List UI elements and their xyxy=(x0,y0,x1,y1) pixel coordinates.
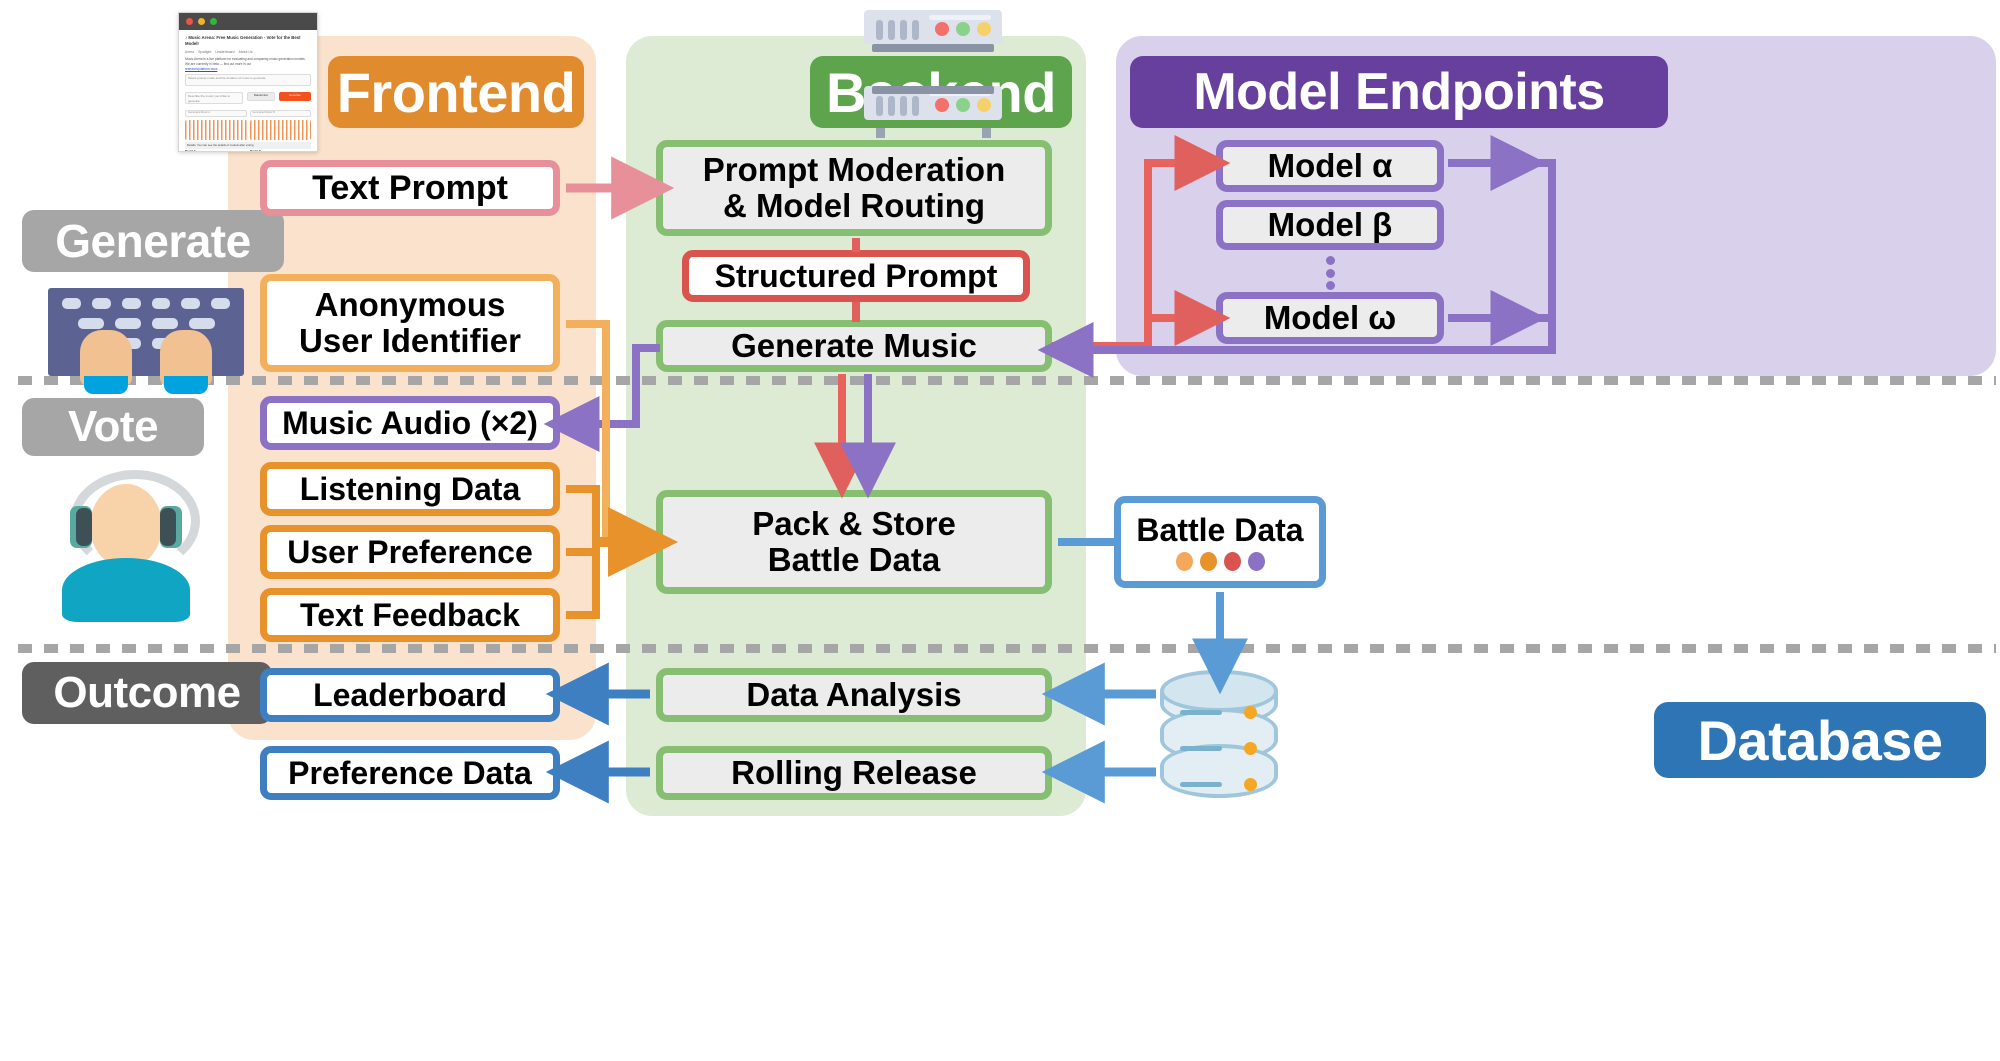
node-rolling-release[interactable]: Rolling Release xyxy=(656,746,1052,800)
node-listening-data-label: Listening Data xyxy=(300,472,520,507)
node-music-audio-label: Music Audio (×2) xyxy=(282,406,538,441)
stage-label-vote-text: Vote xyxy=(68,402,158,452)
thumbnail-prompt-input[interactable]: Describe the music you'd like to generat… xyxy=(185,92,243,104)
thumbnail-generate-button[interactable]: Generate xyxy=(279,92,311,101)
stage-label-generate: Generate xyxy=(22,210,284,272)
node-leaderboard-label: Leaderboard xyxy=(313,678,507,713)
node-text-feedback-label: Text Feedback xyxy=(300,598,520,633)
node-rolling-release-label: Rolling Release xyxy=(731,755,977,791)
lane-title-database: Database xyxy=(1654,702,1986,778)
node-battle-data-label: Battle Data xyxy=(1136,513,1303,548)
battle-data-dots-icon xyxy=(1176,552,1265,571)
node-battle-data[interactable]: Battle Data xyxy=(1114,496,1326,588)
node-pack-store[interactable]: Pack & Store Battle Data xyxy=(656,490,1052,594)
thumbnail-mode-select[interactable]: Select prompt mode and the duration of m… xyxy=(185,74,311,86)
stage-label-outcome-text: Outcome xyxy=(53,668,240,718)
stage-divider-generate-vote xyxy=(18,376,1996,385)
thumbnail-tab-spotlight[interactable]: Spotlight xyxy=(198,50,211,55)
server-rack-icon xyxy=(858,8,1008,136)
thumbnail-intro: Music Arena is a live platform for evalu… xyxy=(185,57,311,67)
node-pack-store-label-1: Pack & Store xyxy=(752,506,956,542)
lane-title-database-label: Database xyxy=(1697,708,1942,773)
thumbnail-tab-arena[interactable]: Arena xyxy=(185,50,194,55)
headphones-person-icon xyxy=(46,470,206,622)
node-data-analysis[interactable]: Data Analysis xyxy=(656,668,1052,722)
node-generate-music[interactable]: Generate Music xyxy=(656,320,1052,372)
thumbnail-intro-link[interactable]: research/platform docs xyxy=(185,67,311,72)
node-anonymous-user-identifier[interactable]: Anonymous User Identifier xyxy=(260,274,560,372)
music-arena-screenshot[interactable]: ♪ Music Arena: Free Music Generation - V… xyxy=(178,12,318,152)
node-model-omega-label: Model ω xyxy=(1264,300,1396,336)
node-anonymous-user-identifier-label-1: Anonymous xyxy=(315,287,506,323)
node-music-audio[interactable]: Music Audio (×2) xyxy=(260,396,560,450)
thumbnail-titlebar xyxy=(179,13,317,30)
node-leaderboard[interactable]: Leaderboard xyxy=(260,668,560,722)
node-model-omega[interactable]: Model ω xyxy=(1216,292,1444,344)
thumbnail-player-b-label: Generated Music B xyxy=(250,110,312,117)
node-listening-data[interactable]: Listening Data xyxy=(260,462,560,516)
node-pack-store-label-2: Battle Data xyxy=(768,542,940,578)
node-prompt-moderation-label-1: Prompt Moderation xyxy=(703,152,1006,188)
node-model-beta-label: Model β xyxy=(1268,207,1393,243)
node-text-prompt[interactable]: Text Prompt xyxy=(260,160,560,216)
model-list-ellipsis-icon xyxy=(1325,256,1335,290)
node-structured-prompt[interactable]: Structured Prompt xyxy=(682,250,1030,302)
node-user-preference[interactable]: User Preference xyxy=(260,525,560,579)
thumbnail-content: ♪ Music Arena: Free Music Generation - V… xyxy=(179,30,317,152)
thumbnail-randomize-button[interactable]: Randomize xyxy=(247,92,275,101)
thumbnail-player-a-label: Generated Music A xyxy=(185,110,247,117)
thumbnail-title: ♪ Music Arena: Free Music Generation - V… xyxy=(185,35,311,48)
stage-label-generate-text: Generate xyxy=(55,214,250,268)
thumbnail-model-a-label: Model A xyxy=(185,149,246,152)
node-model-alpha-label: Model α xyxy=(1268,148,1393,184)
node-preference-data-label: Preference Data xyxy=(288,756,532,791)
stage-label-vote: Vote xyxy=(22,398,204,456)
stage-label-outcome: Outcome xyxy=(22,662,272,724)
node-structured-prompt-label: Structured Prompt xyxy=(715,259,998,294)
architecture-diagram: Frontend Backend Model Endpoints Databas… xyxy=(0,0,2000,1061)
database-cylinder-icon xyxy=(1160,672,1278,808)
node-preference-data[interactable]: Preference Data xyxy=(260,746,560,800)
thumbnail-waveform-b xyxy=(250,120,312,140)
node-prompt-moderation-label-2: & Model Routing xyxy=(723,188,985,224)
node-prompt-moderation[interactable]: Prompt Moderation & Model Routing xyxy=(656,140,1052,236)
thumbnail-tab-about[interactable]: About Us xyxy=(239,50,253,55)
node-text-prompt-label: Text Prompt xyxy=(312,170,508,207)
lane-title-models: Model Endpoints xyxy=(1130,56,1668,128)
thumbnail-model-b-label: Model B xyxy=(250,149,311,152)
node-model-beta[interactable]: Model β xyxy=(1216,200,1444,250)
keyboard-hands-icon xyxy=(48,288,244,394)
thumbnail-tab-leaderboard[interactable]: Leaderboard xyxy=(215,50,234,55)
node-data-analysis-label: Data Analysis xyxy=(746,677,961,713)
node-user-preference-label: User Preference xyxy=(287,535,532,570)
stage-divider-vote-outcome xyxy=(18,644,1996,653)
node-anonymous-user-identifier-label-2: User Identifier xyxy=(299,323,521,359)
node-model-alpha[interactable]: Model α xyxy=(1216,140,1444,192)
lane-title-models-label: Model Endpoints xyxy=(1193,62,1604,122)
thumbnail-waveform-a xyxy=(185,120,247,140)
lane-title-frontend-label: Frontend xyxy=(337,60,576,125)
node-generate-music-label: Generate Music xyxy=(731,328,977,364)
node-text-feedback[interactable]: Text Feedback xyxy=(260,588,560,642)
lane-title-frontend: Frontend xyxy=(328,56,584,128)
